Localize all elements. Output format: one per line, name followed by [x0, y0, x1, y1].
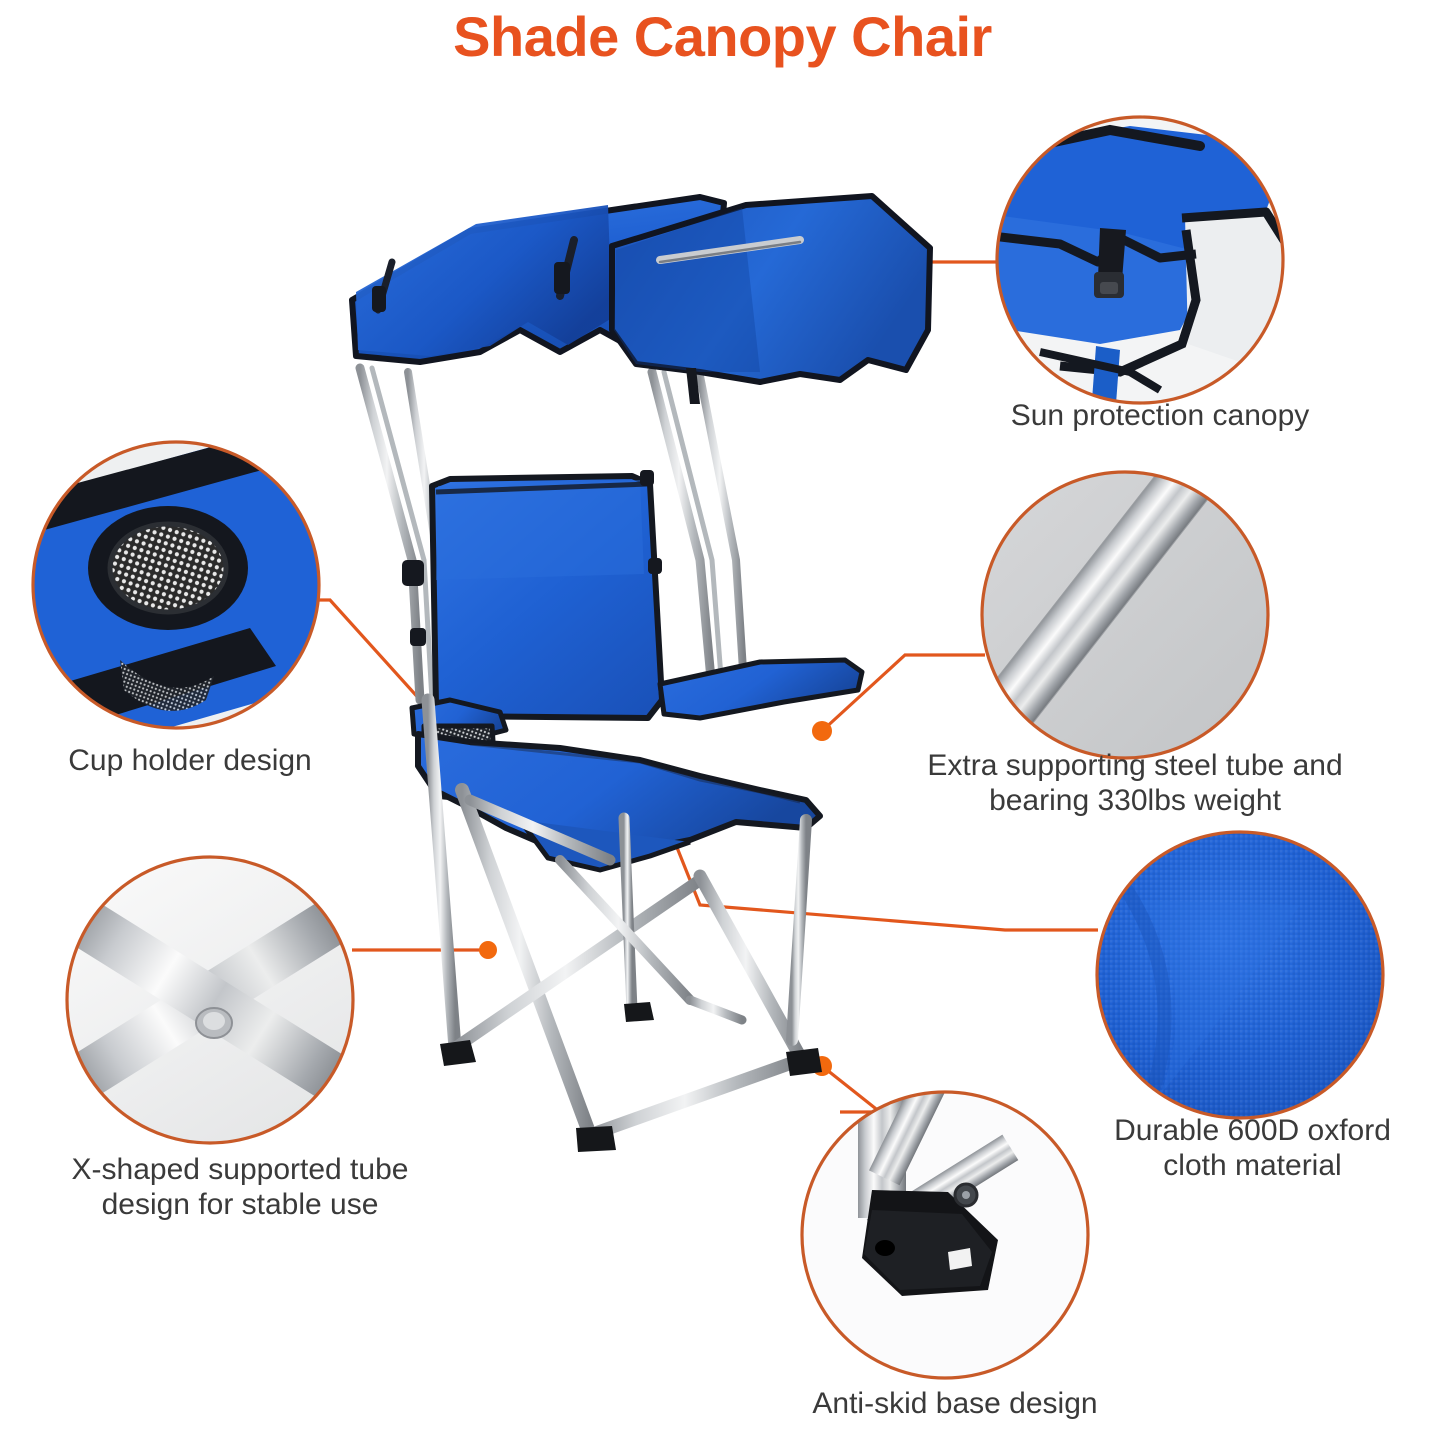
callout-label-extra-supporting-steel-tube: Extra supporting steel tube and bearing …	[830, 748, 1440, 819]
product-chair	[352, 196, 930, 1152]
infographic-canvas: Shade Canopy Chair Sun protection canopy…	[0, 0, 1445, 1445]
callout-label-anti-skid-base-design: Anti-skid base design	[700, 1386, 1210, 1421]
callout-line: X-shaped supported tube	[0, 1152, 480, 1187]
anchor-dot-steel	[812, 721, 832, 741]
callout-line: cloth material	[1060, 1148, 1445, 1183]
canopy-left-face	[356, 205, 612, 356]
connector-anti-skid-base-design	[822, 1066, 880, 1112]
detail-circle-oxford-fabric	[1097, 832, 1383, 1118]
detail-circle-cup-holder	[16, 436, 340, 742]
callout-line: Anti-skid base design	[700, 1386, 1210, 1421]
callout-line: Cup holder design	[0, 743, 380, 778]
callout-label-sun-protection-canopy: Sun protection canopy	[900, 398, 1420, 433]
callout-line: bearing 330lbs weight	[830, 783, 1440, 818]
detail-circle-anti-skid-base	[800, 1045, 1092, 1382]
callout-line: Extra supporting steel tube and	[830, 748, 1440, 783]
detail-circle-sun-protection-canopy	[990, 115, 1290, 410]
callout-line: design for stable use	[0, 1187, 480, 1222]
anchor-dot-x	[479, 941, 497, 959]
callout-line: Sun protection canopy	[900, 398, 1420, 433]
armrest-right	[660, 660, 862, 718]
callout-line: Durable 600D oxford	[1060, 1113, 1445, 1148]
callout-label-cup-holder-design: Cup holder design	[0, 743, 380, 778]
detail-circle-steel-tube	[956, 431, 1272, 765]
page-title: Shade Canopy Chair	[0, 8, 1445, 67]
detail-circle-x-tube	[61, 855, 367, 1147]
callout-label-durable-600d-oxford-cloth: Durable 600D oxford cloth material	[1060, 1113, 1445, 1184]
callout-label-x-shaped-supported-tube: X-shaped supported tube design for stabl…	[0, 1152, 480, 1223]
product-illustration	[0, 0, 1445, 1445]
